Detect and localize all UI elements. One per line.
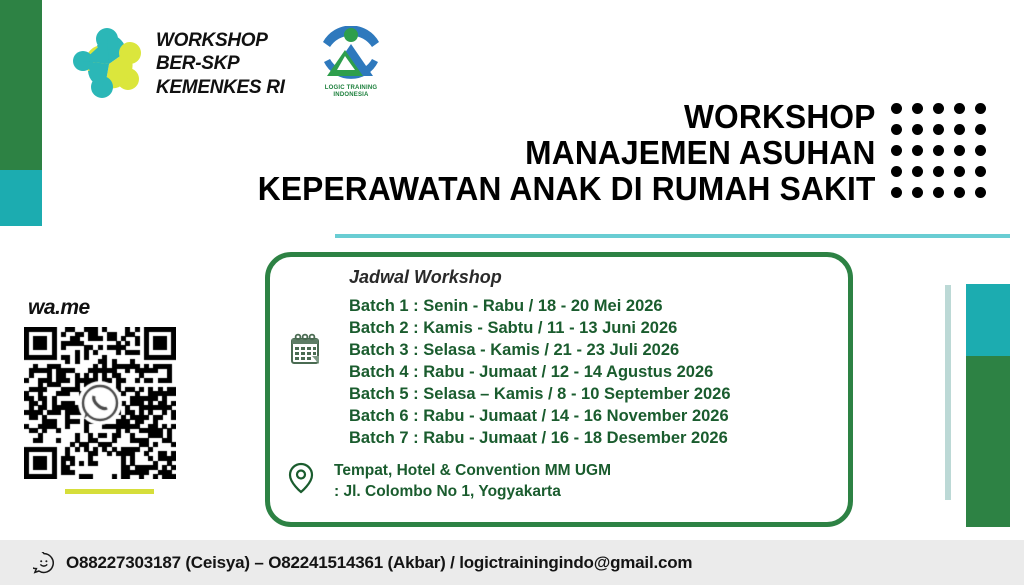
title-line-1: WORKSHOP (258, 99, 876, 135)
grid-dot (954, 145, 965, 156)
grid-dot (933, 124, 944, 135)
dot-grid-decoration (891, 103, 996, 208)
grid-dot (933, 145, 944, 156)
poster-canvas: WORKSHOP BER-SKP KEMENKES RI LOGIC TRAIN… (0, 0, 1024, 585)
schedule-heading: Jadwal Workshop (349, 267, 502, 288)
grid-dot (975, 166, 986, 177)
page-title: WORKSHOP MANAJEMEN ASUHAN KEPERAWATAN AN… (232, 99, 876, 207)
lti-logo-caption: LOGIC TRAINING INDONESIA (325, 85, 377, 99)
left-accent-bar-teal (0, 170, 42, 226)
batch-list-item: Batch 5 : Selasa – Kamis / 8 - 10 Septem… (349, 383, 731, 405)
grid-dot (933, 187, 944, 198)
grid-dot (954, 187, 965, 198)
location-pin-icon (288, 462, 314, 494)
grid-dot (912, 166, 923, 177)
contact-info-text: O88227303187 (Ceisya) – O82241514361 (Ak… (66, 553, 692, 573)
batch-schedule-list: Batch 1 : Senin - Rabu / 18 - 20 Mei 202… (349, 295, 731, 449)
batch-list-item: Batch 7 : Rabu - Jumaat / 16 - 18 Desemb… (349, 427, 731, 449)
logic-training-indonesia-logo: LOGIC TRAINING INDONESIA (307, 26, 395, 106)
kemenkes-pinwheel-icon (72, 27, 146, 101)
grid-dot (891, 166, 902, 177)
grid-dot (954, 103, 965, 114)
right-accent-bar-green (966, 356, 1010, 527)
batch-list-item: Batch 4 : Rabu - Jumaat / 12 - 14 Agustu… (349, 361, 731, 383)
grid-dot (891, 124, 902, 135)
title-line-2: MANAJEMEN ASUHAN (258, 135, 876, 171)
grid-dot (933, 166, 944, 177)
left-accent-bar-green (0, 0, 42, 170)
batch-list-item: Batch 2 : Kamis - Sabtu / 11 - 13 Juni 2… (349, 317, 731, 339)
grid-dot (891, 145, 902, 156)
grid-dot (954, 124, 965, 135)
grid-dot (975, 103, 986, 114)
qr-label: wa.me (28, 296, 90, 320)
grid-dot (891, 187, 902, 198)
grid-dot (912, 103, 923, 114)
whatsapp-chat-icon (33, 552, 55, 574)
venue-address: Tempat, Hotel & Convention MM UGM : Jl. … (334, 460, 611, 502)
lti-mark-icon (315, 26, 387, 84)
grid-dot (912, 145, 923, 156)
grid-dot (912, 124, 923, 135)
whatsapp-qr-code[interactable] (24, 327, 176, 479)
title-line-3: KEPERAWATAN ANAK DI RUMAH SAKIT (258, 171, 876, 207)
batch-list-item: Batch 6 : Rabu - Jumaat / 14 - 16 Novemb… (349, 405, 731, 427)
venue-row: Tempat, Hotel & Convention MM UGM : Jl. … (288, 460, 611, 502)
grid-dot (891, 103, 902, 114)
batch-list-item: Batch 1 : Senin - Rabu / 18 - 20 Mei 202… (349, 295, 731, 317)
batch-list-item: Batch 3 : Selasa - Kamis / 21 - 23 Juli … (349, 339, 731, 361)
kemenkes-logo-text: WORKSHOP BER-SKP KEMENKES RI (156, 29, 285, 99)
schedule-card: Jadwal Workshop Batch 1 : Senin - Rabu /… (265, 252, 853, 527)
grid-dot (933, 103, 944, 114)
qr-underline-accent (65, 489, 154, 494)
calendar-icon (288, 332, 322, 366)
kemenkes-logo: WORKSHOP BER-SKP KEMENKES RI (72, 24, 302, 104)
grid-dot (954, 166, 965, 177)
grid-dot (975, 187, 986, 198)
grid-dot (912, 187, 923, 198)
contact-footer-bar: O88227303187 (Ceisya) – O82241514361 (Ak… (0, 540, 1024, 585)
grid-dot (975, 145, 986, 156)
grid-dot (975, 124, 986, 135)
teal-divider-line (335, 234, 1010, 238)
right-accent-bar-teal (966, 284, 1010, 356)
right-thin-accent-line (945, 285, 951, 500)
qr-canvas[interactable] (24, 327, 176, 479)
